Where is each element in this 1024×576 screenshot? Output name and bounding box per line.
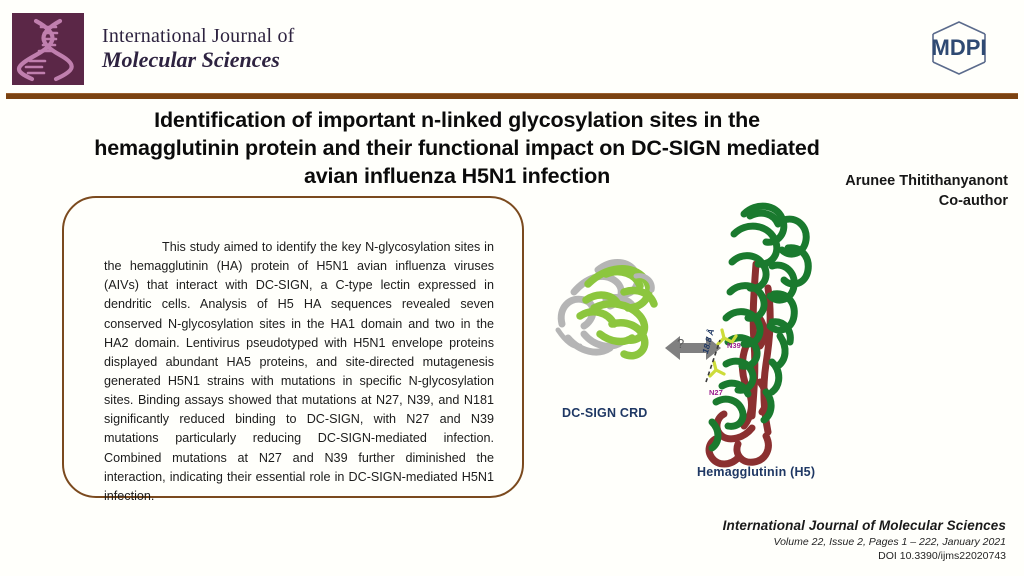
protein-structure-figure <box>540 196 840 496</box>
title-line-1: Identification of important n-linked gly… <box>62 107 852 135</box>
journal-title-line2: Molecular Sciences <box>102 48 295 73</box>
title-line-2: hemagglutinin protein and their function… <box>62 135 852 163</box>
citation-footer: International Journal of Molecular Scien… <box>723 518 1006 562</box>
glycosylation-site-n39-label: N39 <box>727 341 741 350</box>
title-line-3: avian influenza H5N1 infection <box>62 163 852 191</box>
author-name: Arunee Thitithanyanont <box>758 172 1008 192</box>
dna-helix-icon <box>12 13 84 85</box>
header-divider <box>6 93 1018 99</box>
footer-journal-name: International Journal of Molecular Scien… <box>723 518 1006 533</box>
mdpi-logo-text: MDPI <box>932 35 987 60</box>
hemagglutinin-label: Hemagglutinin (H5) <box>697 465 815 479</box>
hemagglutinin-structure <box>706 206 808 464</box>
footer-doi: DOI 10.3390/ijms22020743 <box>723 550 1006 562</box>
interaction-question-mark: ? <box>677 336 684 351</box>
page-title: Identification of important n-linked gly… <box>62 107 852 191</box>
journal-logo: International Journal of Molecular Scien… <box>12 13 295 85</box>
page-header: International Journal of Molecular Scien… <box>0 0 1024 96</box>
mdpi-logo: MDPI <box>916 18 1002 78</box>
dc-sign-crd-structure <box>558 263 654 356</box>
dc-sign-crd-label: DC-SIGN CRD <box>562 406 648 420</box>
journal-title-line1: International Journal of <box>102 25 295 47</box>
footer-volume-info: Volume 22, Issue 2, Pages 1 – 222, Janua… <box>723 536 1006 548</box>
journal-title: International Journal of Molecular Scien… <box>102 25 295 73</box>
abstract-text: This study aimed to identify the key N-g… <box>104 238 494 506</box>
glycosylation-site-n27-label: N27 <box>709 388 723 397</box>
